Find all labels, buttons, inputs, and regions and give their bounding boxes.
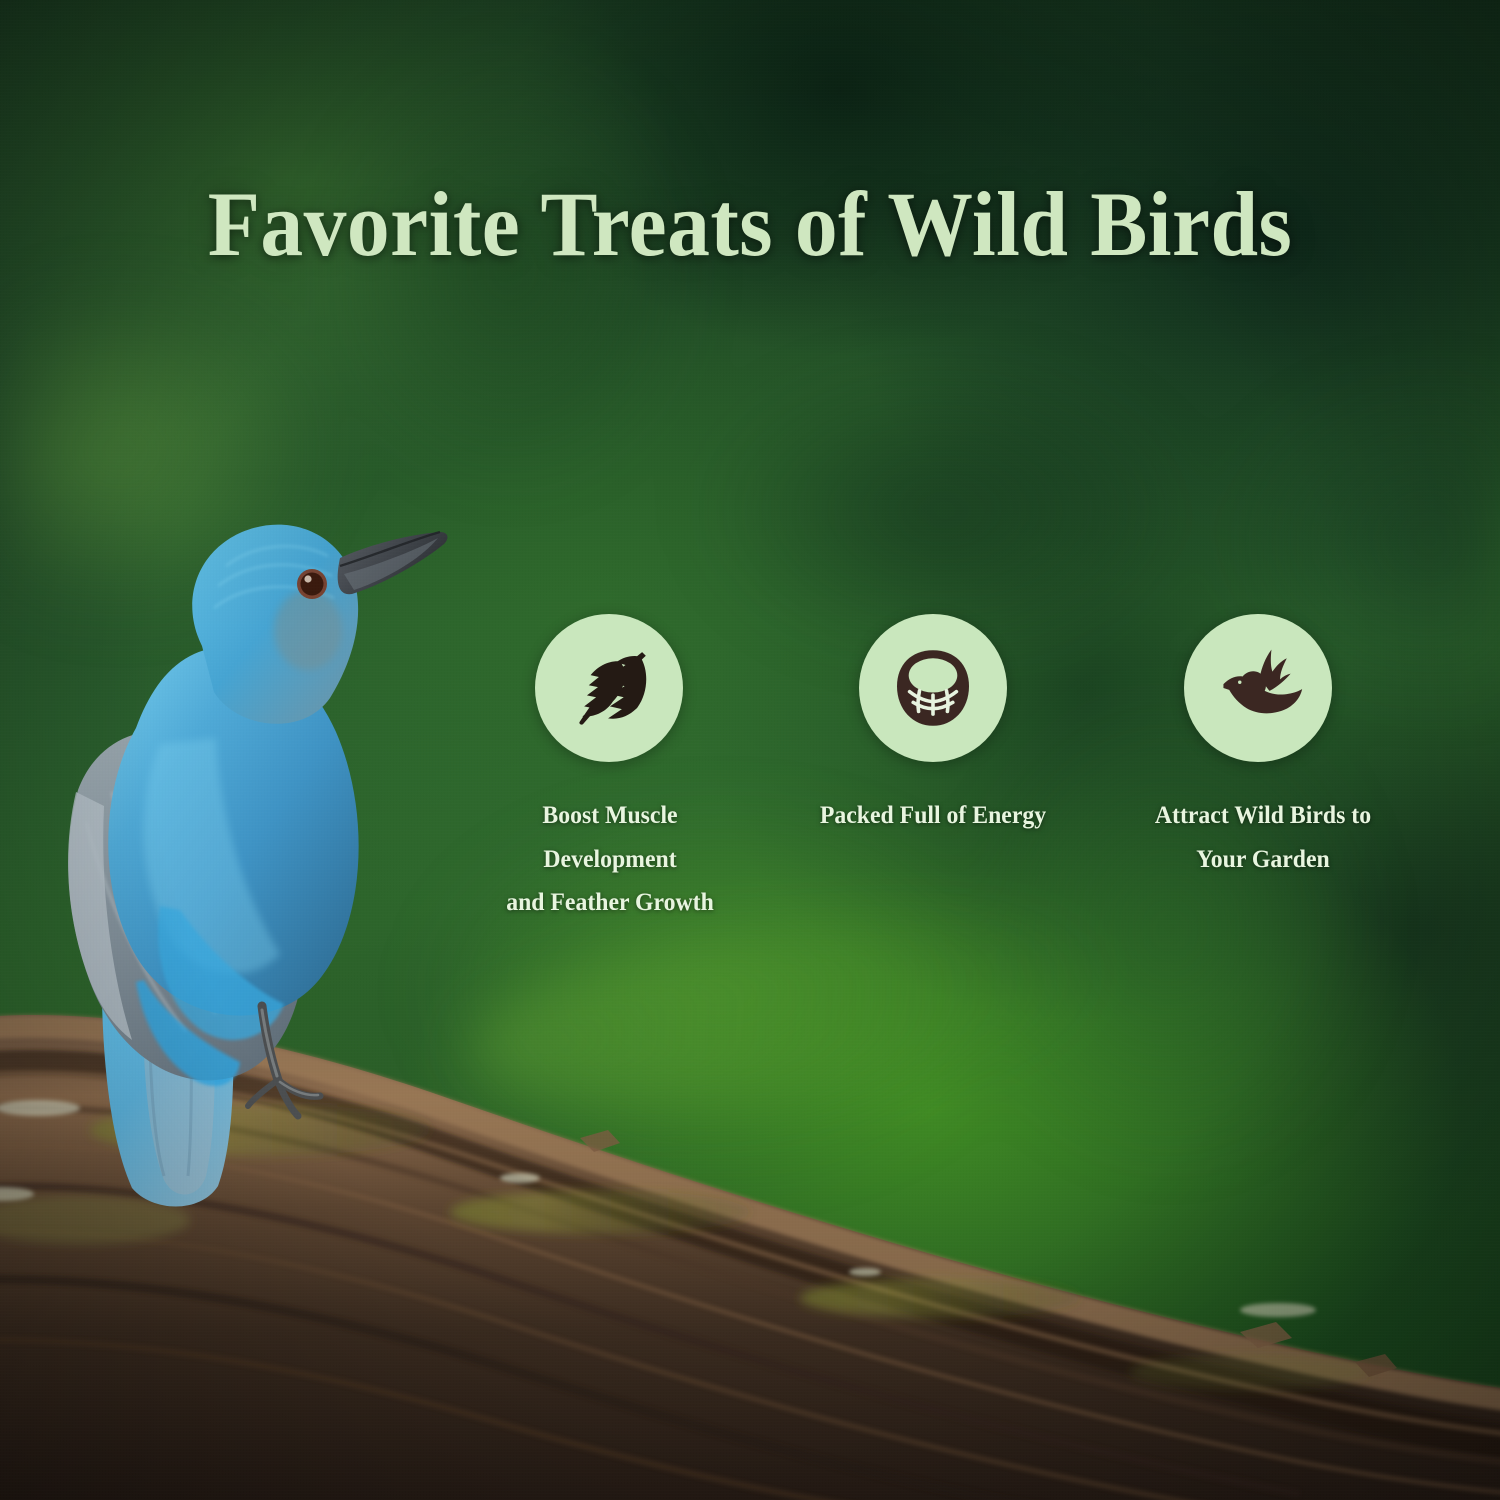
- feature-icon-badge-1: [535, 614, 683, 762]
- feature-label-3: Attract Wild Birds to Your Garden: [1116, 794, 1411, 881]
- feature-icon-badge-2: [859, 614, 1007, 762]
- feature-icon-badge-3: [1184, 614, 1332, 762]
- flying-bird-icon: [1210, 640, 1306, 736]
- feature-label-1-line-3: and Feather Growth: [463, 881, 758, 925]
- feature-label-2: Packed Full of Energy: [786, 794, 1081, 838]
- feature-label-1: Boost Muscle Development and Feather Gro…: [463, 794, 758, 925]
- suet-feeder-icon: [888, 643, 978, 733]
- feather-icon: [563, 642, 655, 734]
- feature-label-1-line-1: Boost Muscle: [463, 794, 758, 838]
- feature-label-3-line-2: Your Garden: [1116, 838, 1411, 882]
- feature-label-2-line-1: Packed Full of Energy: [786, 794, 1081, 838]
- feature-label-1-line-2: Development: [463, 838, 758, 882]
- product-lifestyle-banner: Favorite Treats of Wild Birds: [0, 0, 1500, 1500]
- feature-row: Boost Muscle Development and Feather Gro…: [0, 0, 1500, 1500]
- feature-label-3-line-1: Attract Wild Birds to: [1116, 794, 1411, 838]
